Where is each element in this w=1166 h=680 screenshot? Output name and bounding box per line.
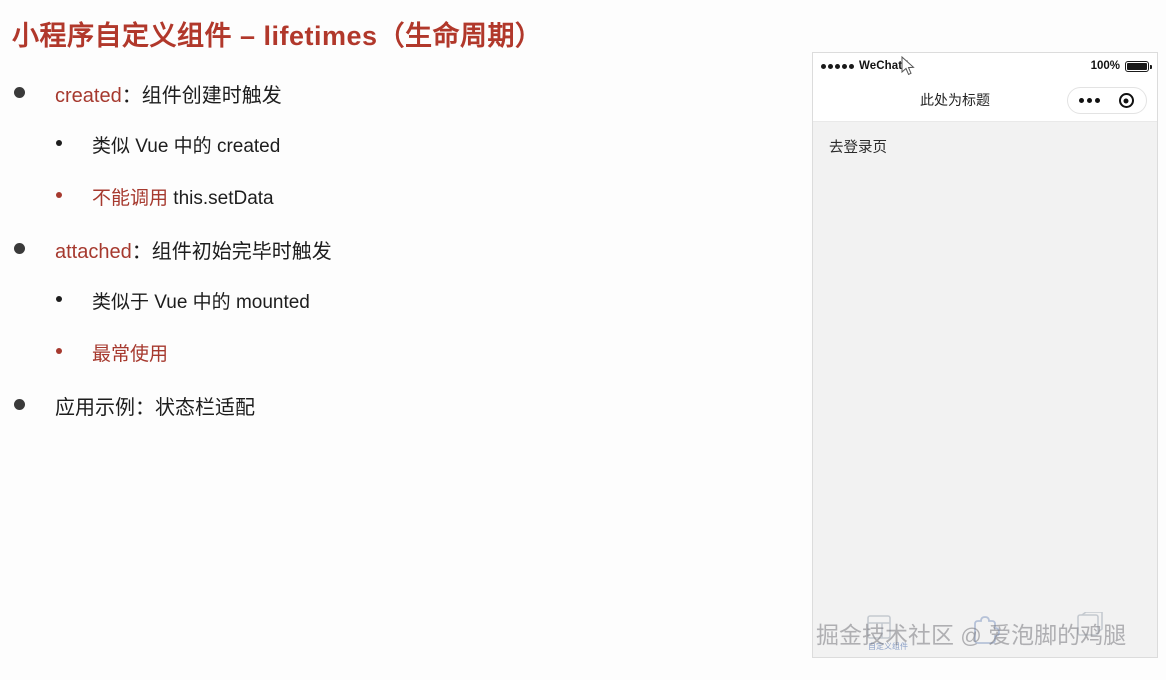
list-item: 最常使用: [0, 344, 800, 396]
devtools-bottom-strip: 自定义组件 掘金技术社区 @ 爱泡脚的鸡腿: [812, 612, 1158, 658]
list-item-text: 类似于 Vue 中的 mounted: [92, 292, 310, 315]
list-item-text: 应用示例：状态栏适配: [55, 396, 255, 420]
bullet-marker-icon: [56, 296, 62, 302]
wechat-capsule-button[interactable]: [1067, 87, 1147, 114]
list-item-rest: ：组件创建时触发: [122, 85, 282, 107]
list-item-text: created：组件创建时触发: [55, 84, 282, 108]
bullet-marker-icon: [14, 399, 25, 410]
list-item: 类似于 Vue 中的 mounted: [0, 292, 800, 344]
battery-percent-label: 100%: [1091, 60, 1120, 72]
list-item-emphasis: attached: [55, 241, 132, 263]
list-item-rest: 应用示例：状态栏适配: [55, 397, 255, 419]
signal-strength-icon: [821, 64, 854, 69]
list-item-text: 类似 Vue 中的 created: [92, 136, 280, 159]
wechat-simulator-panel: WeChat4 100% 此处为标题 去登录页: [812, 52, 1158, 658]
slide-content-area: 小程序自定义组件 – lifetimes（生命周期） created：组件创建时…: [0, 0, 800, 680]
bullet-marker-icon: [56, 192, 62, 198]
list-item: attached：组件初始完毕时触发: [0, 240, 800, 292]
list-item-rest: 类似于 Vue 中的 mounted: [92, 292, 310, 313]
bullet-marker-icon: [14, 87, 25, 98]
battery-full-icon: [1125, 61, 1149, 72]
list-item-emphasis: 不能调用: [92, 188, 168, 209]
bullet-marker-icon: [14, 243, 25, 254]
watermark-site: 掘金技术社区: [816, 622, 954, 648]
list-item-text: 不能调用 this.setData: [92, 188, 274, 211]
list-item-text: 最常使用: [92, 344, 168, 367]
bullet-list: created：组件创建时触发 类似 Vue 中的 created 不能调用 t…: [0, 84, 800, 448]
simulator-status-bar: WeChat4 100%: [813, 53, 1157, 79]
page-title: 小程序自定义组件 – lifetimes（生命周期）: [12, 14, 543, 53]
list-item: 应用示例：状态栏适配: [0, 396, 800, 448]
more-dots-icon[interactable]: [1079, 98, 1100, 103]
watermark-separator: @: [960, 625, 981, 648]
carrier-label: WeChat4: [859, 60, 909, 72]
list-item: 类似 Vue 中的 created: [0, 136, 800, 188]
bullet-marker-icon: [56, 140, 62, 146]
list-item: 不能调用 this.setData: [0, 188, 800, 240]
list-item-text: attached：组件初始完毕时触发: [55, 240, 332, 264]
bullet-marker-icon: [56, 348, 62, 354]
simulator-page-body: 去登录页: [813, 122, 1157, 658]
watermark: 掘金技术社区 @ 爱泡脚的鸡腿: [812, 616, 1158, 650]
status-bar-left: WeChat4: [821, 60, 909, 72]
watermark-author: 爱泡脚的鸡腿: [988, 622, 1126, 648]
go-to-login-link[interactable]: 去登录页: [829, 136, 1157, 157]
simulator-nav-bar: 此处为标题: [813, 79, 1157, 122]
target-circle-icon[interactable]: [1119, 93, 1134, 108]
list-item: created：组件创建时触发: [0, 84, 800, 136]
list-item-rest: 类似 Vue 中的 created: [92, 136, 280, 157]
status-bar-right: 100%: [1091, 60, 1149, 72]
list-item-rest: ：组件初始完毕时触发: [132, 241, 332, 263]
list-item-emphasis: created: [55, 85, 122, 107]
list-item-emphasis: 最常使用: [92, 344, 168, 365]
list-item-rest: this.setData: [168, 188, 274, 209]
